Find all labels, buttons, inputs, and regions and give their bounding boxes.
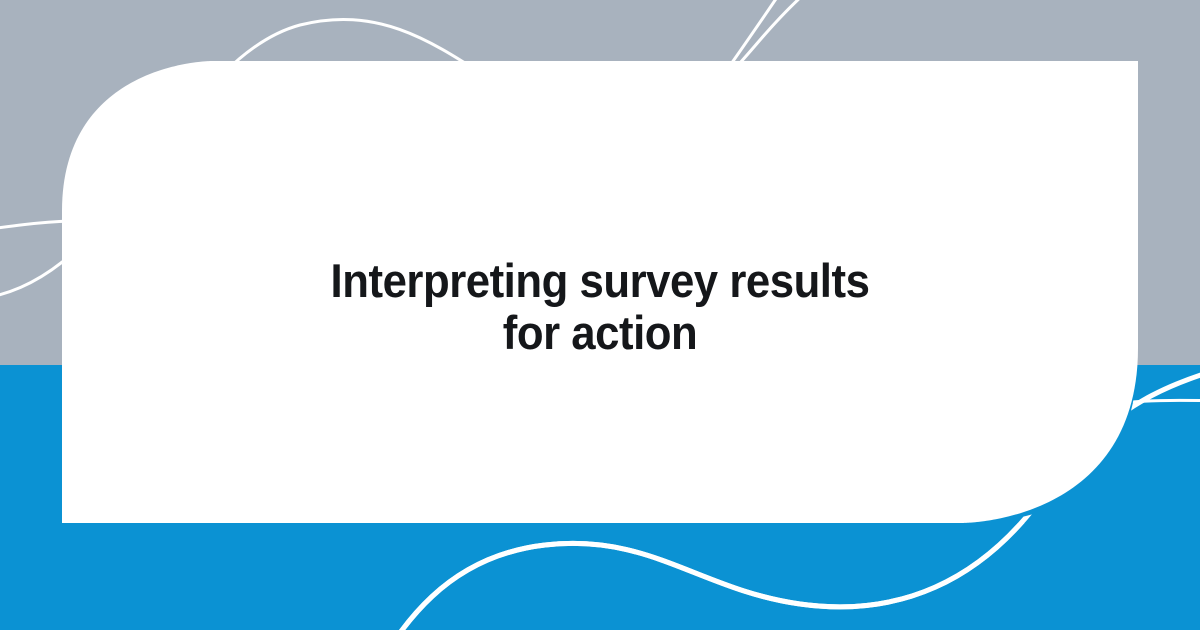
share-card-canvas: Interpreting survey results for action [0, 0, 1200, 630]
page-title: Interpreting survey results for action [100, 255, 1101, 359]
hero-title-block: Interpreting survey results for action [62, 255, 1138, 359]
